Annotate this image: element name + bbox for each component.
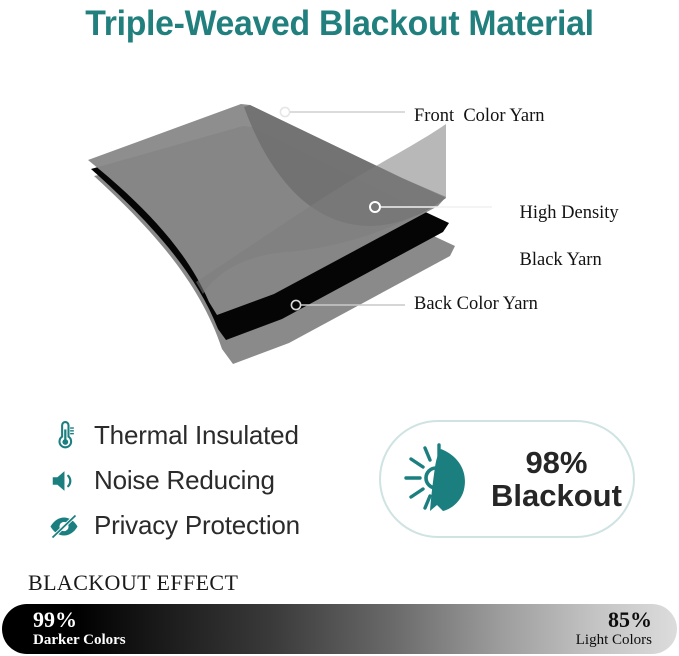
triple-layer-fabric-diagram: Front Color Yarn High Density Black Yarn… bbox=[0, 72, 679, 372]
label-back-color-yarn: Back Color Yarn bbox=[414, 293, 538, 316]
blackout-percentage-badge: 98% Blackout bbox=[379, 420, 635, 538]
feature-list: Thermal Insulated Noise Reducing Privacy… bbox=[47, 413, 377, 548]
feature-label: Noise Reducing bbox=[94, 465, 275, 496]
blackout-effect-heading: BLACKOUT EFFECT bbox=[28, 570, 238, 596]
light-colors-stat: 85% Light Colors bbox=[576, 608, 652, 649]
light-colors-percent: 85% bbox=[576, 608, 652, 632]
feature-privacy-protection: Privacy Protection bbox=[47, 503, 377, 548]
label-high-density-line2: Black Yarn bbox=[520, 250, 602, 270]
thermometer-icon bbox=[47, 419, 81, 453]
badge-percent: 98% bbox=[491, 446, 622, 479]
feature-label: Privacy Protection bbox=[94, 510, 300, 541]
darker-colors-label: Darker Colors bbox=[33, 632, 126, 649]
speaker-sound-icon bbox=[47, 464, 81, 498]
darker-colors-stat: 99% Darker Colors bbox=[33, 608, 126, 649]
front-layer-marker bbox=[280, 107, 405, 116]
badge-text-block: 98% Blackout bbox=[491, 446, 622, 513]
eye-slash-icon bbox=[47, 509, 81, 543]
light-colors-label: Light Colors bbox=[576, 632, 652, 649]
blackout-effect-gradient-bar: 99% Darker Colors 85% Light Colors bbox=[2, 604, 677, 654]
label-high-density-line1: High Density bbox=[520, 203, 619, 223]
label-high-density-black-yarn: High Density Black Yarn bbox=[501, 179, 619, 296]
feature-thermal-insulated: Thermal Insulated bbox=[47, 413, 377, 458]
feature-label: Thermal Insulated bbox=[94, 420, 299, 451]
sun-blocked-by-curtain-icon bbox=[397, 439, 483, 519]
page-title: Triple-Weaved Blackout Material bbox=[12, 4, 667, 44]
label-front-color-yarn: Front Color Yarn bbox=[414, 105, 545, 128]
badge-word: Blackout bbox=[491, 479, 622, 512]
darker-colors-percent: 99% bbox=[33, 608, 126, 632]
feature-noise-reducing: Noise Reducing bbox=[47, 458, 377, 503]
